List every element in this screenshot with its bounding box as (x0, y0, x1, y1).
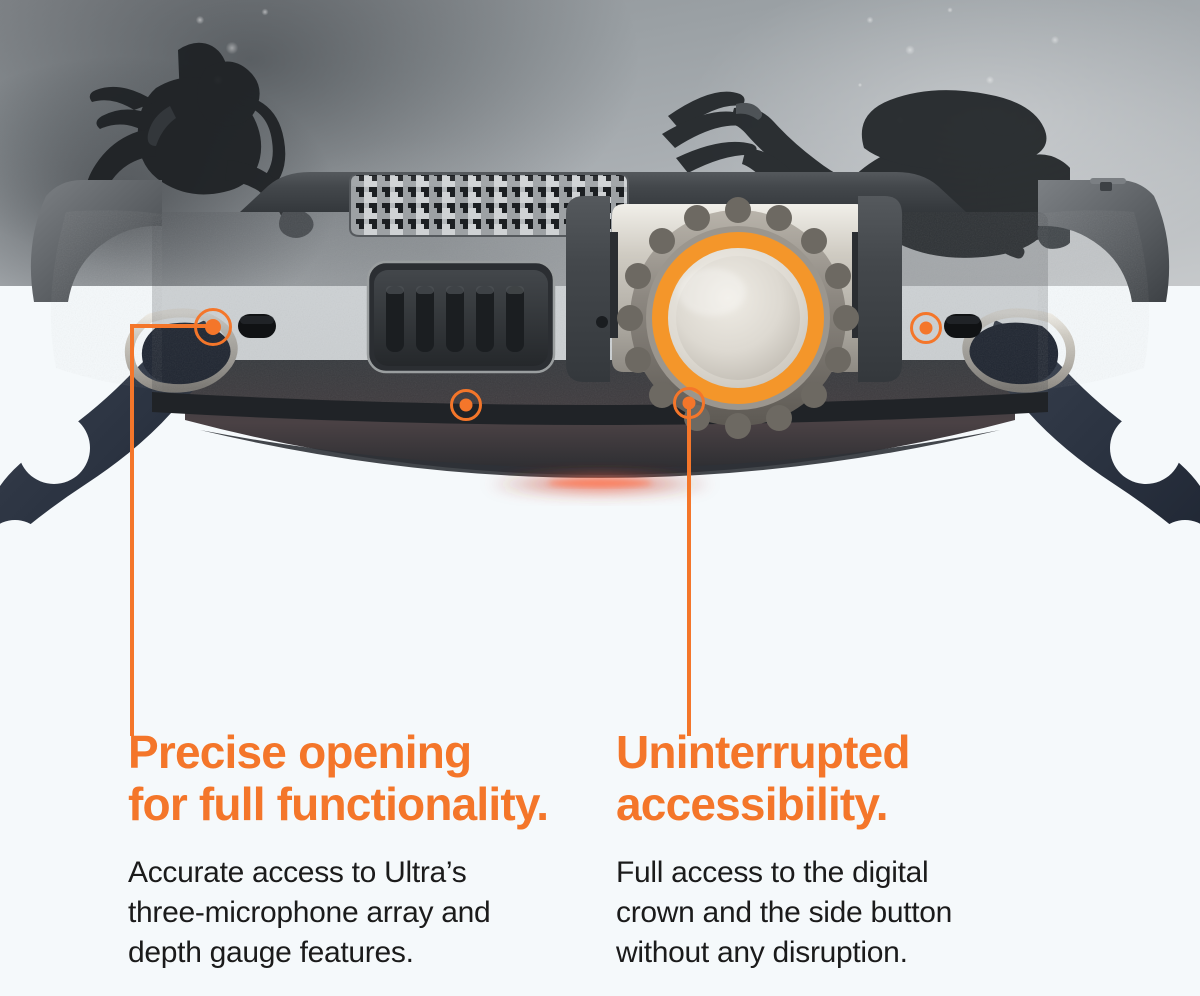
side-button-marker[interactable] (450, 389, 482, 421)
ribbed-side-button-cutout[interactable] (368, 262, 554, 372)
body-line-3: without any disruption. (616, 933, 1200, 973)
body-line-1: Full access to the digital (616, 853, 1200, 893)
case-left-wing (31, 180, 162, 390)
callout-body-uninterrupted-accessibility: Full access to the digital crown and the… (616, 853, 1200, 973)
speaker-port-right (944, 314, 982, 338)
case-right-wing (1038, 178, 1169, 390)
speaker-port-marker[interactable] (910, 312, 942, 344)
callout-body-precise-opening: Accurate access to Ultra’s three-microph… (128, 853, 560, 973)
callout-line-left-vertical (130, 324, 134, 736)
body-line-1: Accurate access to Ultra’s (128, 853, 560, 893)
callout-headline-precise-opening: Precise opening for full functionality. (128, 726, 560, 831)
digital-crown[interactable] (617, 197, 859, 439)
headline-line-1: Precise opening (128, 726, 560, 778)
body-line-2: three-microphone array and (128, 893, 560, 933)
microphone-port-left (238, 314, 276, 338)
body-line-3: depth gauge features. (128, 933, 560, 973)
headline-line-2: for full functionality. (128, 778, 560, 830)
rugged-watch-case-product (0, 0, 1200, 620)
headline-line-1: Uninterrupted (616, 726, 1200, 778)
headline-line-2: accessibility. (616, 778, 1200, 830)
callout-line-left-horizontal (130, 324, 210, 328)
callout-block-precise-opening: Precise opening for full functionality. … (0, 726, 560, 973)
callout-headline-uninterrupted-accessibility: Uninterrupted accessibility. (616, 726, 1200, 831)
callout-text-row: Precise opening for full functionality. … (0, 726, 1200, 973)
product-feature-panel: Precise opening for full functionality. … (0, 0, 1200, 996)
callout-line-right-vertical (687, 403, 691, 736)
body-line-2: crown and the side button (616, 893, 1200, 933)
callout-block-uninterrupted-accessibility: Uninterrupted accessibility. Full access… (560, 726, 1200, 973)
